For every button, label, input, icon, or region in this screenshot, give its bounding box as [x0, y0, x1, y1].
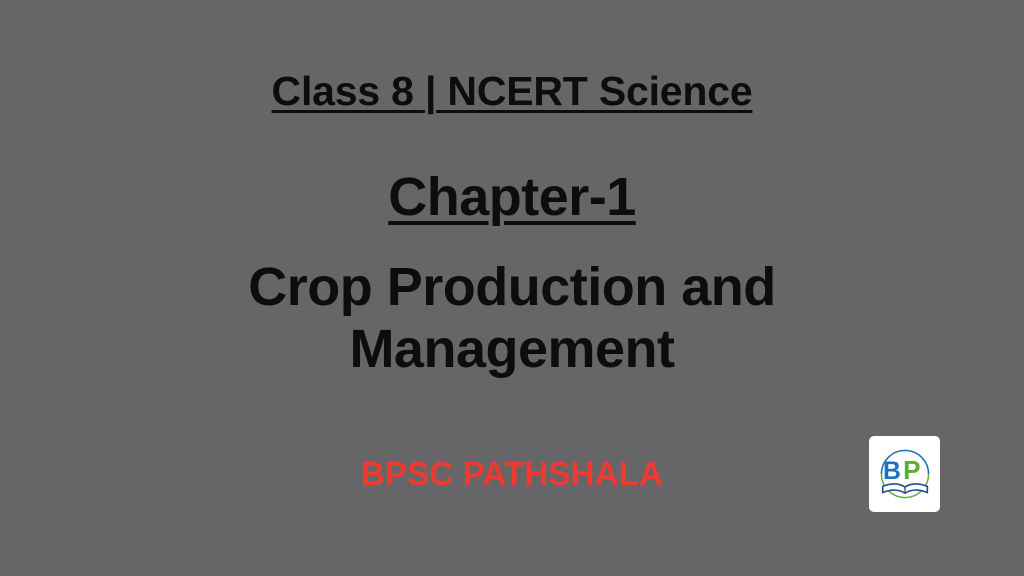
chapter-title: Crop Production and Management	[162, 256, 862, 380]
course-heading: Class 8 | NCERT Science	[0, 68, 1024, 115]
svg-text:P: P	[903, 455, 920, 485]
chapter-number-label: Chapter-1	[388, 167, 636, 227]
course-class-label: Class 8	[272, 68, 425, 114]
course-separator: |	[425, 68, 436, 114]
logo-card: B P	[869, 436, 940, 512]
title-slide: Class 8 | NCERT Science Chapter-1 Crop P…	[0, 0, 1024, 576]
svg-text:B: B	[883, 458, 901, 485]
chapter-heading: Chapter-1	[0, 166, 1024, 228]
course-subject-label: NCERT Science	[436, 68, 752, 114]
bpsc-pathshala-logo-icon: B P	[874, 443, 936, 505]
